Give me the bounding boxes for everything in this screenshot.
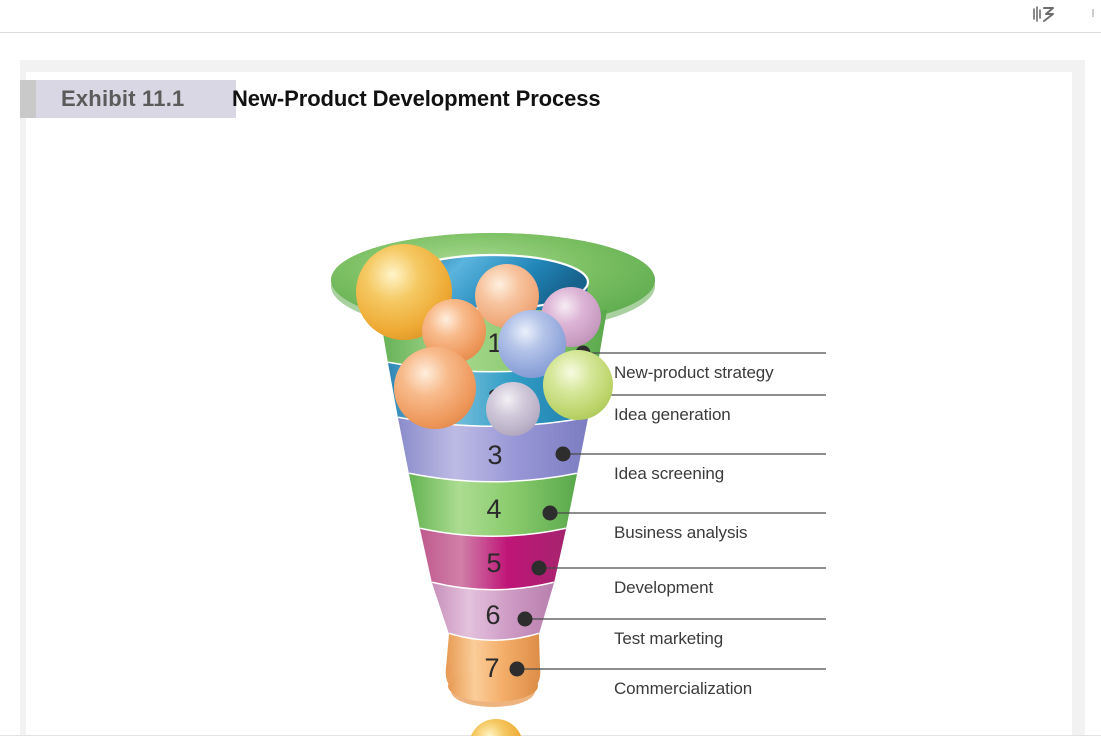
funnel-figure: 1 2 3 4 5 6 7	[26, 120, 1072, 736]
stage-label-2: Idea generation	[614, 405, 731, 425]
screenshot-root: Exhibit 11.1 New-Product Development Pro…	[0, 0, 1101, 744]
browser-topbar	[0, 0, 1101, 33]
exhibit-tab-marker	[20, 80, 36, 118]
stage-label-1: New-product strategy	[614, 363, 774, 383]
partial-glyph-icon	[1085, 8, 1095, 20]
stage-label-7: Commercialization	[614, 679, 752, 699]
exhibit-title: New-Product Development Process	[232, 80, 601, 118]
stage-label-6: Test marketing	[614, 629, 723, 649]
stage-label-5: Development	[614, 578, 713, 598]
exhibit-header: Exhibit 11.1 New-Product Development Pro…	[20, 80, 1072, 118]
exhibit-number-chip: Exhibit 11.1	[36, 80, 236, 118]
stage-label-3: Idea screening	[614, 464, 724, 484]
stage-label-layer: New-product strategy Idea generation Ide…	[26, 120, 1072, 736]
stage-label-4: Business analysis	[614, 523, 747, 543]
speaker-sound-icon[interactable]	[1029, 2, 1059, 26]
exhibit-number-label: Exhibit 11.1	[36, 86, 184, 112]
